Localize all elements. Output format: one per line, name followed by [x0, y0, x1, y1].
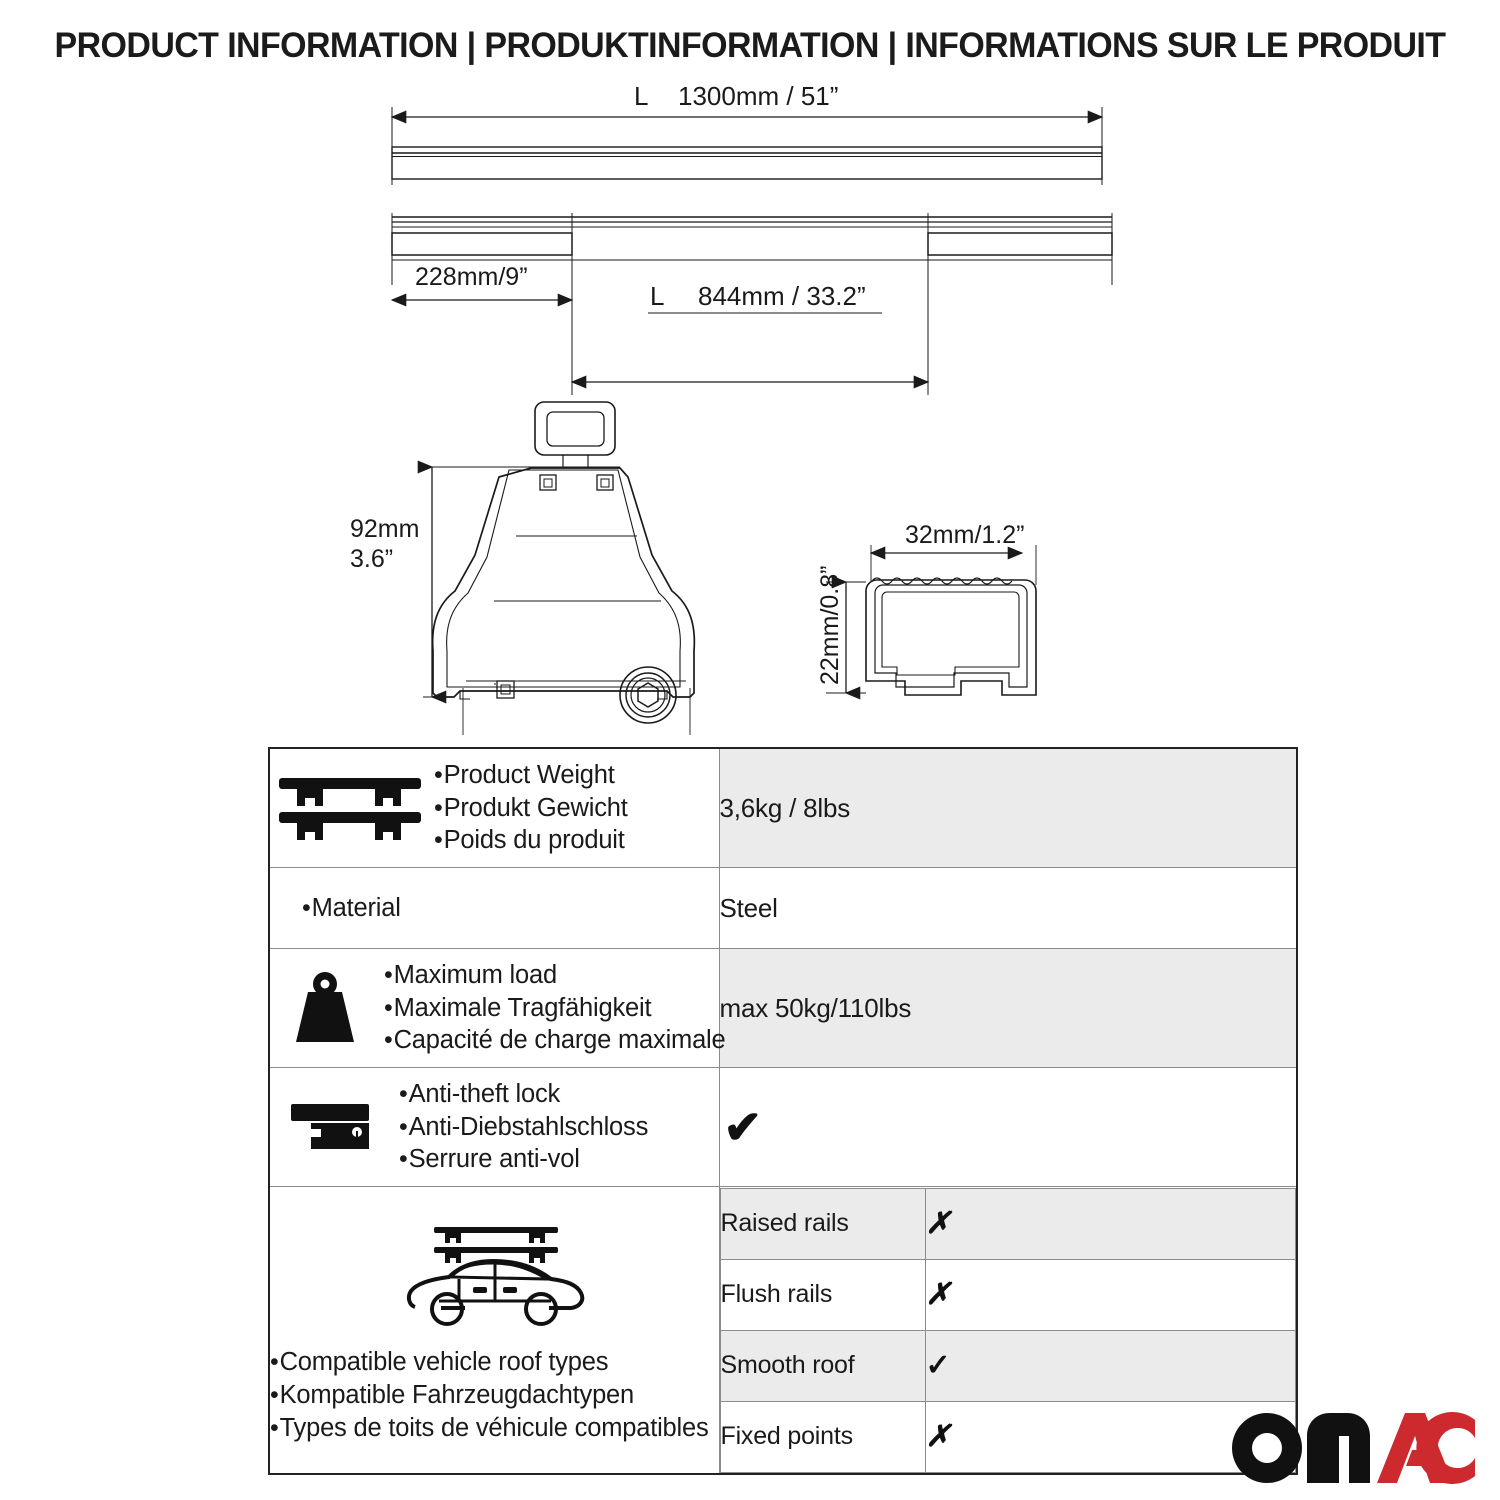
dim-spread-value: 844mm / 33.2”	[698, 281, 866, 311]
roof-types-label-cell: Compatible vehicle roof types Kompatible…	[269, 1187, 719, 1475]
spec-label-text: Anti-theft lock Anti-Diebstahlschloss Se…	[399, 1078, 648, 1176]
roof-type-mark: ✓	[925, 1330, 1296, 1401]
spec-label-text: Material	[270, 892, 401, 925]
dim-profile-width-value: 32mm/1.2”	[905, 521, 1024, 549]
label-line: Material	[302, 892, 401, 925]
roof-types-table: Raised rails ✗ Flush rails ✗	[720, 1188, 1297, 1473]
dim-end-offset-value: 228mm/9”	[415, 263, 528, 291]
dim-foot-height-line1: 92mm	[350, 515, 419, 543]
label-line: Product Weight	[434, 759, 628, 792]
spec-value-maximum-load: max 50kg/110lbs	[719, 949, 1297, 1068]
roof-types-table-cell: Raised rails ✗ Flush rails ✗	[719, 1187, 1297, 1475]
technical-drawing: L 1300mm / 51” 228mm/9” L 844mm / 33.2” …	[0, 85, 1500, 735]
spec-label-cell: Anti-theft lock Anti-Diebstahlschloss Se…	[269, 1068, 719, 1187]
spec-label-text: Maximum load Maximale Tragfähigkeit Capa…	[384, 959, 726, 1057]
dim-bar-length-value: 1300mm / 51”	[678, 85, 838, 111]
roof-type-row: Flush rails ✗	[720, 1259, 1296, 1330]
page-title: PRODUCT INFORMATION | PRODUKTINFORMATION…	[23, 26, 1478, 66]
cross-icon: ✗	[926, 1420, 951, 1453]
label-line: Capacité de charge maximale	[384, 1024, 726, 1057]
table-row: Anti-theft lock Anti-Diebstahlschloss Se…	[269, 1068, 1297, 1187]
label-line: Poids du produit	[434, 824, 628, 857]
table-row: Maximum load Maximale Tragfähigkeit Capa…	[269, 949, 1297, 1068]
label-line: Produkt Gewicht	[434, 792, 628, 825]
table-row: Material Steel	[269, 868, 1297, 949]
spec-value-product-weight: 3,6kg / 8lbs	[719, 748, 1297, 868]
table-row: Product Weight Produkt Gewicht Poids du …	[269, 748, 1297, 868]
roof-type-mark: ✗	[925, 1188, 1296, 1259]
roof-type-name: Smooth roof	[720, 1330, 925, 1401]
omac-logo	[1229, 1408, 1475, 1486]
crossbars-icon	[270, 772, 430, 844]
label-line: Serrure anti-vol	[399, 1143, 648, 1176]
lock-icon	[270, 1098, 395, 1156]
roof-type-name: Raised rails	[720, 1188, 925, 1259]
spec-label-cell: Material	[269, 868, 719, 949]
roof-type-name: Fixed points	[720, 1401, 925, 1472]
dim-foot-height-line2: 3.6”	[350, 545, 393, 573]
label-line: Types de toits de véhicule compatibles	[270, 1412, 719, 1445]
table-row: Compatible vehicle roof types Kompatible…	[269, 1187, 1297, 1475]
spec-label-cell: Maximum load Maximale Tragfähigkeit Capa…	[269, 949, 719, 1068]
product-spec-table: Product Weight Produkt Gewicht Poids du …	[268, 747, 1298, 1475]
label-line: Kompatible Fahrzeugdachtypen	[270, 1379, 719, 1412]
spec-value-material: Steel	[719, 868, 1297, 949]
car-with-roofbars-icon	[270, 1215, 719, 1346]
label-line: Maximale Tragfähigkeit	[384, 992, 726, 1025]
weight-icon	[270, 970, 380, 1046]
roof-type-row: Fixed points ✗	[720, 1401, 1296, 1472]
label-line: Compatible vehicle roof types	[270, 1346, 719, 1379]
roof-types-caption: Compatible vehicle roof types Kompatible…	[270, 1346, 719, 1445]
dim-bar-length-prefix: L	[634, 85, 648, 111]
roof-type-row: Raised rails ✗	[720, 1188, 1296, 1259]
roof-type-row: Smooth roof ✓	[720, 1330, 1296, 1401]
spec-label-cell: Product Weight Produkt Gewicht Poids du …	[269, 748, 719, 868]
dim-spread-prefix: L	[650, 281, 664, 311]
label-line: Anti-theft lock	[399, 1078, 648, 1111]
cross-icon: ✗	[926, 1207, 951, 1240]
label-line: Anti-Diebstahlschloss	[399, 1111, 648, 1144]
label-line: Maximum load	[384, 959, 726, 992]
spec-value-anti-theft-lock: ✔	[719, 1068, 1297, 1187]
roof-type-name: Flush rails	[720, 1259, 925, 1330]
checkmark-icon: ✓	[926, 1349, 951, 1382]
spec-label-text: Product Weight Produkt Gewicht Poids du …	[434, 759, 628, 857]
dim-profile-height-value: 22mm/0.8”	[816, 566, 844, 685]
cross-icon: ✗	[926, 1278, 951, 1311]
roof-type-mark: ✗	[925, 1259, 1296, 1330]
checkmark-icon: ✔	[720, 1104, 762, 1150]
